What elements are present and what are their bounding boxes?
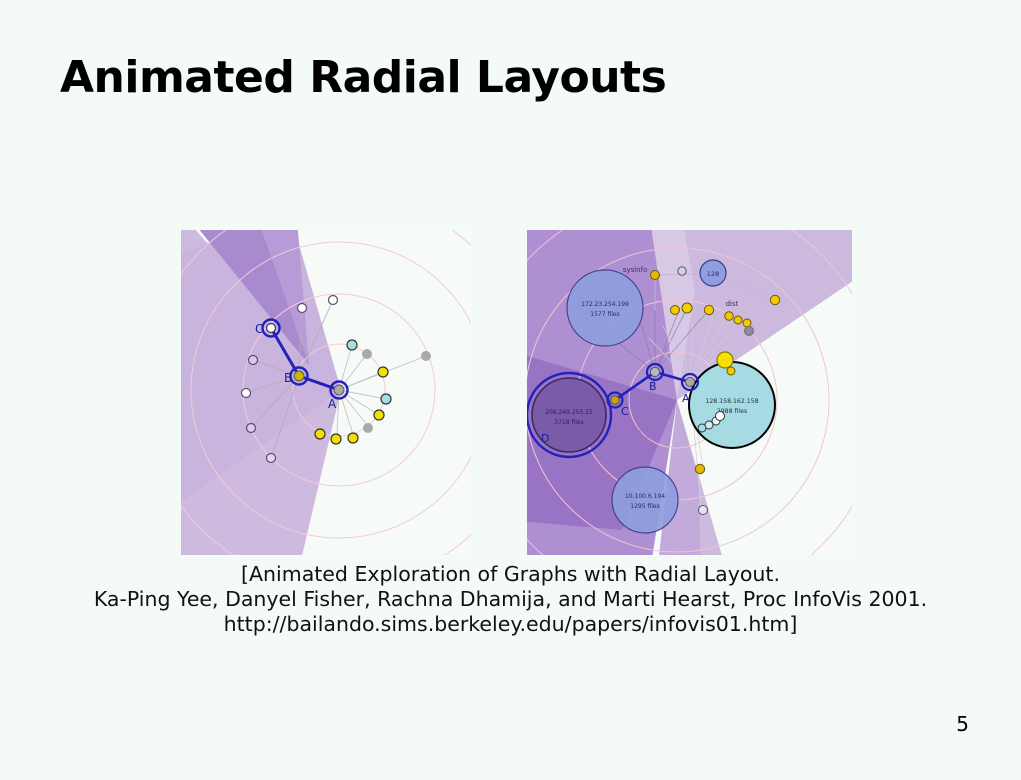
node-label-a-left: A: [328, 397, 337, 411]
figure-right-radial-layout: 172.23.254.199 1577 files 209.249.255.15…: [527, 230, 852, 555]
page-number: 5: [956, 712, 969, 736]
node-128-small: 128: [700, 260, 726, 286]
figure-caption: [Animated Exploration of Graphs with Rad…: [0, 562, 1021, 637]
label-sysinfo: sysinfo: [623, 266, 648, 274]
host-node-128-label: 128.158.162.158: [705, 398, 758, 405]
host-node-209-label: 209.249.255.15: [545, 409, 593, 416]
caption-line-1: [Animated Exploration of Graphs with Rad…: [0, 562, 1021, 587]
node-label-c-left: C: [255, 322, 263, 336]
page-title: Animated Radial Layouts: [60, 52, 666, 103]
caption-line-3: http://bailando.sims.berkeley.edu/papers…: [0, 612, 1021, 637]
node-128-small-label: 128: [707, 270, 719, 278]
figure-left-radial-layout: A B C: [181, 230, 471, 555]
host-node-10-files: 1295 files: [630, 503, 659, 510]
node-label-a-right: A: [682, 392, 690, 405]
node-label-b-right: B: [649, 380, 657, 393]
figure-row: A B C: [0, 230, 1021, 555]
host-node-172-label: 172.23.254.199: [581, 301, 629, 308]
label-dist: dist: [726, 300, 739, 308]
slide-canvas: Animated Radial Layouts: [0, 0, 1021, 780]
node-label-c-right: C: [621, 405, 629, 418]
host-node-10: 10.100.6.194 1295 files: [612, 467, 678, 533]
host-node-209-files: 3718 files: [554, 419, 583, 426]
caption-line-2: Ka-Ping Yee, Danyel Fisher, Rachna Dhami…: [0, 587, 1021, 612]
host-node-172: 172.23.254.199 1577 files: [567, 270, 643, 346]
host-node-10-label: 10.100.6.194: [625, 493, 665, 500]
host-node-209: 209.249.255.15 3718 files: [527, 373, 611, 457]
host-node-172-files: 1577 files: [590, 311, 619, 318]
node-label-b-left: B: [284, 371, 292, 385]
node-label-d-right: D: [541, 432, 549, 445]
